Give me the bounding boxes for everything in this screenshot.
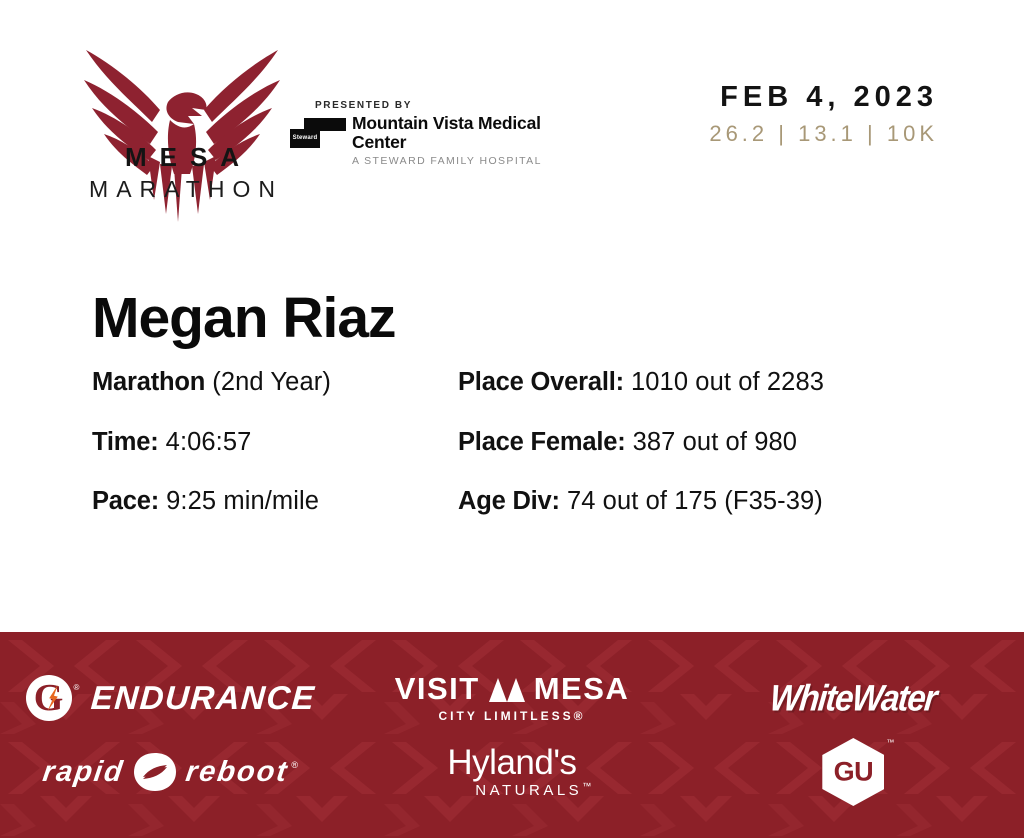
- sponsor-cell-gatorade: G ® ENDURANCE: [0, 661, 341, 735]
- logo-text-marathon: MARATHON: [76, 178, 288, 201]
- certificate-header: MESA MARATHON PRESENTED BY Steward Mount…: [0, 0, 1024, 240]
- stat-value-pace: 9:25 min/mile: [166, 487, 319, 515]
- whitewater-logo: WhiteWater: [768, 677, 938, 720]
- gatorade-g-icon: G: [26, 675, 72, 721]
- hylands-logo: Hyland's NATURALS™: [429, 745, 594, 799]
- sponsor-cell-hylands: Hyland's NATURALS™: [341, 735, 682, 809]
- stats-column-right: Place Overall: 1010 out of 2283 Place Fe…: [458, 370, 978, 549]
- visit-mesa-text-mesa: MESA: [534, 673, 630, 704]
- rapid-reboot-text-rapid: rapid: [41, 756, 127, 789]
- gatorade-endurance-logo: G ® ENDURANCE: [26, 675, 316, 721]
- steward-logo-icon: Steward: [290, 118, 346, 148]
- race-distances: 26.2 | 13.1 | 10K: [709, 121, 938, 147]
- steward-mark-text: Steward: [291, 135, 319, 141]
- stat-label-pace: Pace:: [92, 487, 159, 515]
- hylands-tagline-wrap: NATURALS™: [475, 781, 594, 799]
- stat-label-time: Time:: [92, 428, 159, 456]
- stat-label-place-overall: Place Overall:: [458, 368, 624, 396]
- presented-by-label: PRESENTED BY: [315, 100, 590, 111]
- hylands-tagline: NATURALS: [475, 782, 582, 799]
- sponsor-cell-whitewater: WhiteWater: [683, 661, 1024, 735]
- stat-value-place-female: 387 out of 980: [633, 428, 797, 456]
- stat-label-place-female: Place Female:: [458, 428, 626, 456]
- visit-mesa-tagline: CITY LIMITLESS®: [395, 709, 630, 723]
- stat-label-age-div: Age Div:: [458, 487, 560, 515]
- sponsor-row-2: rapid reboot ® Hyland's NATURALS™: [0, 735, 1024, 809]
- gu-logo: GU ™: [822, 738, 884, 806]
- athlete-name: Megan Riaz: [92, 290, 396, 347]
- stat-row-pace: Pace: 9:25 min/mile: [92, 489, 452, 515]
- rapid-reboot-trademark: ®: [291, 760, 298, 770]
- sponsor-cell-rapid-reboot: rapid reboot ®: [0, 735, 341, 809]
- gatorade-endurance-text: ENDURANCE: [90, 679, 317, 717]
- gu-trademark: ™: [886, 738, 894, 747]
- presented-by-block: PRESENTED BY Steward Mountain Vista Medi…: [290, 100, 590, 167]
- presenting-sponsor-tagline: A STEWARD FAMILY HOSPITAL: [352, 155, 590, 167]
- stat-value-time: 4:06:57: [166, 428, 252, 456]
- stat-row-place-female: Place Female: 387 out of 980: [458, 430, 978, 456]
- hylands-trademark: ™: [582, 781, 595, 791]
- sponsor-cell-gu: GU ™: [683, 735, 1024, 809]
- rapid-reboot-logo: rapid reboot ®: [43, 752, 298, 792]
- visit-mesa-text-visit: VISIT: [395, 673, 480, 704]
- stat-row-place-overall: Place Overall: 1010 out of 2283: [458, 370, 978, 396]
- stat-label-event: Marathon: [92, 368, 205, 396]
- hylands-text: Hyland's: [429, 745, 594, 780]
- swirl-emblem-icon: [133, 752, 177, 792]
- stat-row-age-div: Age Div: 74 out of 175 (F35-39): [458, 489, 978, 515]
- stat-row-time: Time: 4:06:57: [92, 430, 452, 456]
- stats-column-left: Marathon (2nd Year) Time: 4:06:57 Pace: …: [92, 370, 452, 549]
- stat-value-place-overall: 1010 out of 2283: [631, 368, 824, 396]
- visit-mesa-logo: VISIT MESA CITY LIMITLESS®: [395, 673, 630, 723]
- logo-text-mesa: MESA: [82, 144, 282, 170]
- rapid-reboot-text-reboot: reboot: [184, 756, 291, 789]
- gatorade-trademark: ®: [74, 683, 80, 692]
- sponsor-cell-visit-mesa: VISIT MESA CITY LIMITLESS®: [341, 661, 682, 735]
- mountain-peaks-icon: [487, 676, 527, 702]
- stat-value-event: (2nd Year): [212, 368, 331, 396]
- mesa-marathon-logo: MESA MARATHON: [82, 36, 282, 226]
- race-date-block: FEB 4, 2023 26.2 | 13.1 | 10K: [709, 82, 938, 147]
- stat-row-event: Marathon (2nd Year): [92, 370, 452, 396]
- race-date: FEB 4, 2023: [709, 82, 938, 112]
- presenting-sponsor-name: Mountain Vista Medical Center: [352, 114, 590, 153]
- sponsor-footer: G ® ENDURANCE VISIT MESA: [0, 632, 1024, 838]
- stat-value-age-div: 74 out of 175 (F35-39): [567, 487, 823, 515]
- sponsor-row-1: G ® ENDURANCE VISIT MESA: [0, 661, 1024, 735]
- gu-text: GU: [822, 759, 884, 786]
